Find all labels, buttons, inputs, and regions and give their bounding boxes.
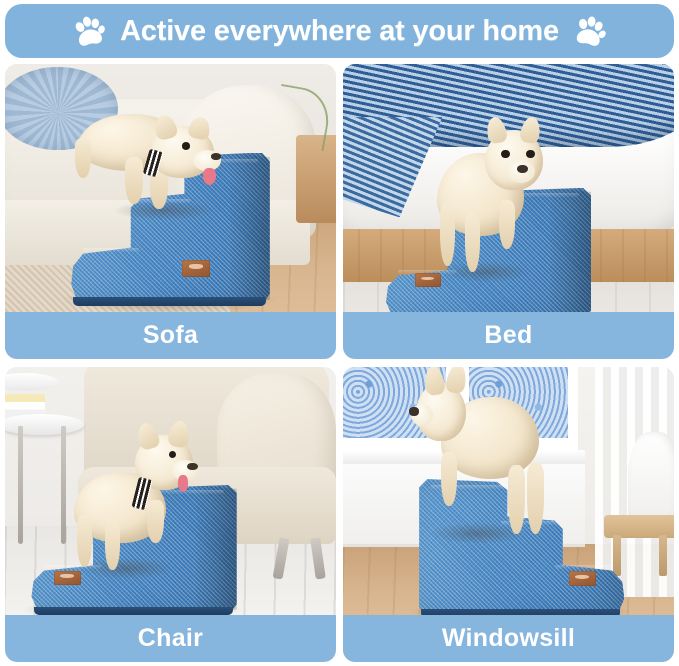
dog-hind-leg-left (508, 465, 525, 533)
step-tread-1 (555, 565, 612, 569)
page-title: Active everywhere at your home (120, 17, 559, 46)
dog-ear-right (519, 116, 543, 145)
brand-logo-tag (569, 571, 596, 586)
non-slip-base (34, 607, 233, 615)
stool-leg-right (659, 535, 667, 576)
panel-windowsill[interactable]: Windowsill (343, 367, 674, 662)
dog-eye-left (501, 150, 509, 158)
dog-front-leg (499, 200, 516, 250)
white-chair (628, 432, 674, 521)
non-slip-base (73, 297, 266, 306)
panel-label-text: Sofa (143, 323, 198, 348)
dog-hind-leg (75, 138, 91, 178)
dog (71, 102, 250, 220)
panel-label-text: Bed (484, 323, 532, 348)
panel-chair[interactable]: Chair (5, 367, 336, 662)
dog-shadow (83, 558, 171, 579)
dog (71, 426, 223, 579)
dog-nose (517, 165, 528, 173)
dog-front-leg (441, 452, 457, 507)
paw-icon (570, 11, 610, 51)
dog-hind-leg-right (527, 462, 544, 534)
dog-ear-right (187, 115, 213, 141)
dog (429, 117, 568, 282)
panel-label-sofa: Sofa (5, 312, 336, 359)
side-table-upper-shelf (5, 373, 58, 391)
dog-hind-leg-left (440, 203, 455, 266)
dog-hind-leg-2 (105, 521, 120, 570)
dog-tongue (203, 168, 216, 185)
panel-bed[interactable]: Bed (343, 64, 674, 359)
header-banner: Active everywhere at your home (5, 4, 674, 58)
panel-sofa[interactable]: Sofa (5, 64, 336, 359)
panel-label-text: Windowsill (442, 626, 575, 651)
dog-eye-right (526, 150, 534, 158)
panel-grid: Sofa (5, 64, 674, 662)
dog-nose (409, 407, 419, 416)
dog-tongue (178, 475, 189, 492)
panel-label-text: Chair (138, 626, 203, 651)
dog-shadow (443, 262, 529, 282)
dog-shadow (431, 523, 523, 544)
dog-hind-leg (77, 515, 92, 567)
side-table-leg (18, 426, 23, 544)
step-tread-1 (83, 248, 139, 252)
brand-logo-tag (182, 260, 210, 277)
dog-front-leg-far (125, 157, 143, 204)
panel-label-chair: Chair (5, 615, 336, 662)
infographic-page: Active everywhere at your home (0, 0, 679, 666)
dog (409, 373, 568, 544)
paw-icon (69, 11, 108, 50)
panel-label-windowsill: Windowsill (343, 615, 674, 662)
dog-eye (182, 142, 190, 149)
panel-label-bed: Bed (343, 312, 674, 359)
dog-front-leg (147, 500, 164, 543)
dog-nose (187, 463, 198, 471)
